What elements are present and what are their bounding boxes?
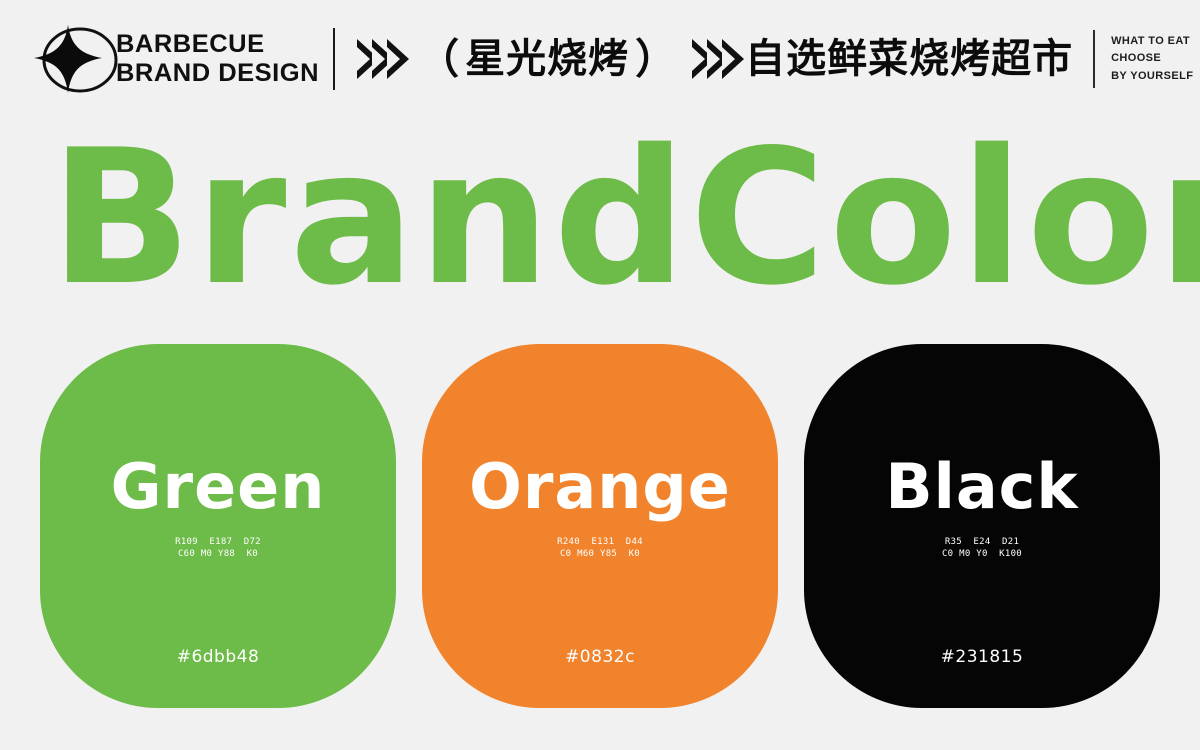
color-swatch-black[interactable]: Black R35 E24 D21 C0 M0 Y0 K100 #231815 <box>804 344 1160 708</box>
chevron-right-icon <box>387 39 409 79</box>
brand-open-paren: （ <box>418 39 459 80</box>
swatch-hex: #6dbb48 <box>40 647 396 667</box>
swatch-hex: #0832c <box>422 647 778 667</box>
swatch-name: Black <box>804 456 1160 518</box>
tagline: WHAT TO EAT CHOOSE BY YOURSELF <box>1111 33 1193 84</box>
header-divider-right <box>1093 30 1095 88</box>
color-swatch-row: Green R109 E187 D72 C60 M0 Y88 K0 #6dbb4… <box>40 344 1160 708</box>
swatch-name: Green <box>40 456 396 518</box>
tagline-line-3: BY YOURSELF <box>1111 68 1193 85</box>
chevron-right-icon <box>722 39 744 79</box>
tagline-line-1: WHAT TO EAT <box>1111 33 1193 50</box>
swatch-cmyk: C0 M60 Y85 K0 <box>422 548 778 560</box>
swatch-name: Orange <box>422 456 778 518</box>
swatch-cmyk: C0 M0 Y0 K100 <box>804 548 1160 560</box>
page-title: Brand Color <box>50 118 1170 318</box>
page-header: BARBECUE BRAND DESIGN （ 星光烧烤 ） 自选鲜菜烧烤超市 … <box>0 0 1200 118</box>
swatch-rgb: R35 E24 D21 <box>804 536 1160 548</box>
swatch-rgb: R240 E131 D44 <box>422 536 778 548</box>
swatch-specs: R240 E131 D44 C0 M60 Y85 K0 <box>422 536 778 560</box>
header-divider-left <box>333 28 335 90</box>
swatch-cmyk: C60 M0 Y88 K0 <box>40 548 396 560</box>
swatch-specs: R35 E24 D21 C0 M0 Y0 K100 <box>804 536 1160 560</box>
color-swatch-orange[interactable]: Orange R240 E131 D44 C0 M60 Y85 K0 #0832… <box>422 344 778 708</box>
swatch-rgb: R109 E187 D72 <box>40 536 396 548</box>
four-point-star-icon <box>28 23 120 95</box>
brand-logo: BARBECUE BRAND DESIGN <box>28 23 315 95</box>
brand-name-cn: 星光烧烤 <box>465 39 629 79</box>
page-title-word-1: Brand <box>50 118 690 318</box>
brand-descriptor-cn: 自选鲜菜烧烤超市 <box>745 39 1073 79</box>
logo-line-2: BRAND DESIGN <box>116 61 319 86</box>
swatch-hex: #231815 <box>804 647 1160 667</box>
tagline-line-2: CHOOSE <box>1111 50 1193 67</box>
swatch-specs: R109 E187 D72 C60 M0 Y88 K0 <box>40 536 396 560</box>
page-title-word-2: Color <box>690 118 1200 318</box>
logo-line-1: BARBECUE <box>116 32 319 57</box>
color-swatch-green[interactable]: Green R109 E187 D72 C60 M0 Y88 K0 #6dbb4… <box>40 344 396 708</box>
brand-close-paren: ） <box>635 39 676 80</box>
chevron-group-right <box>692 39 737 79</box>
logo-wordmark: BARBECUE BRAND DESIGN <box>116 32 315 86</box>
chevron-group-left <box>357 39 402 79</box>
